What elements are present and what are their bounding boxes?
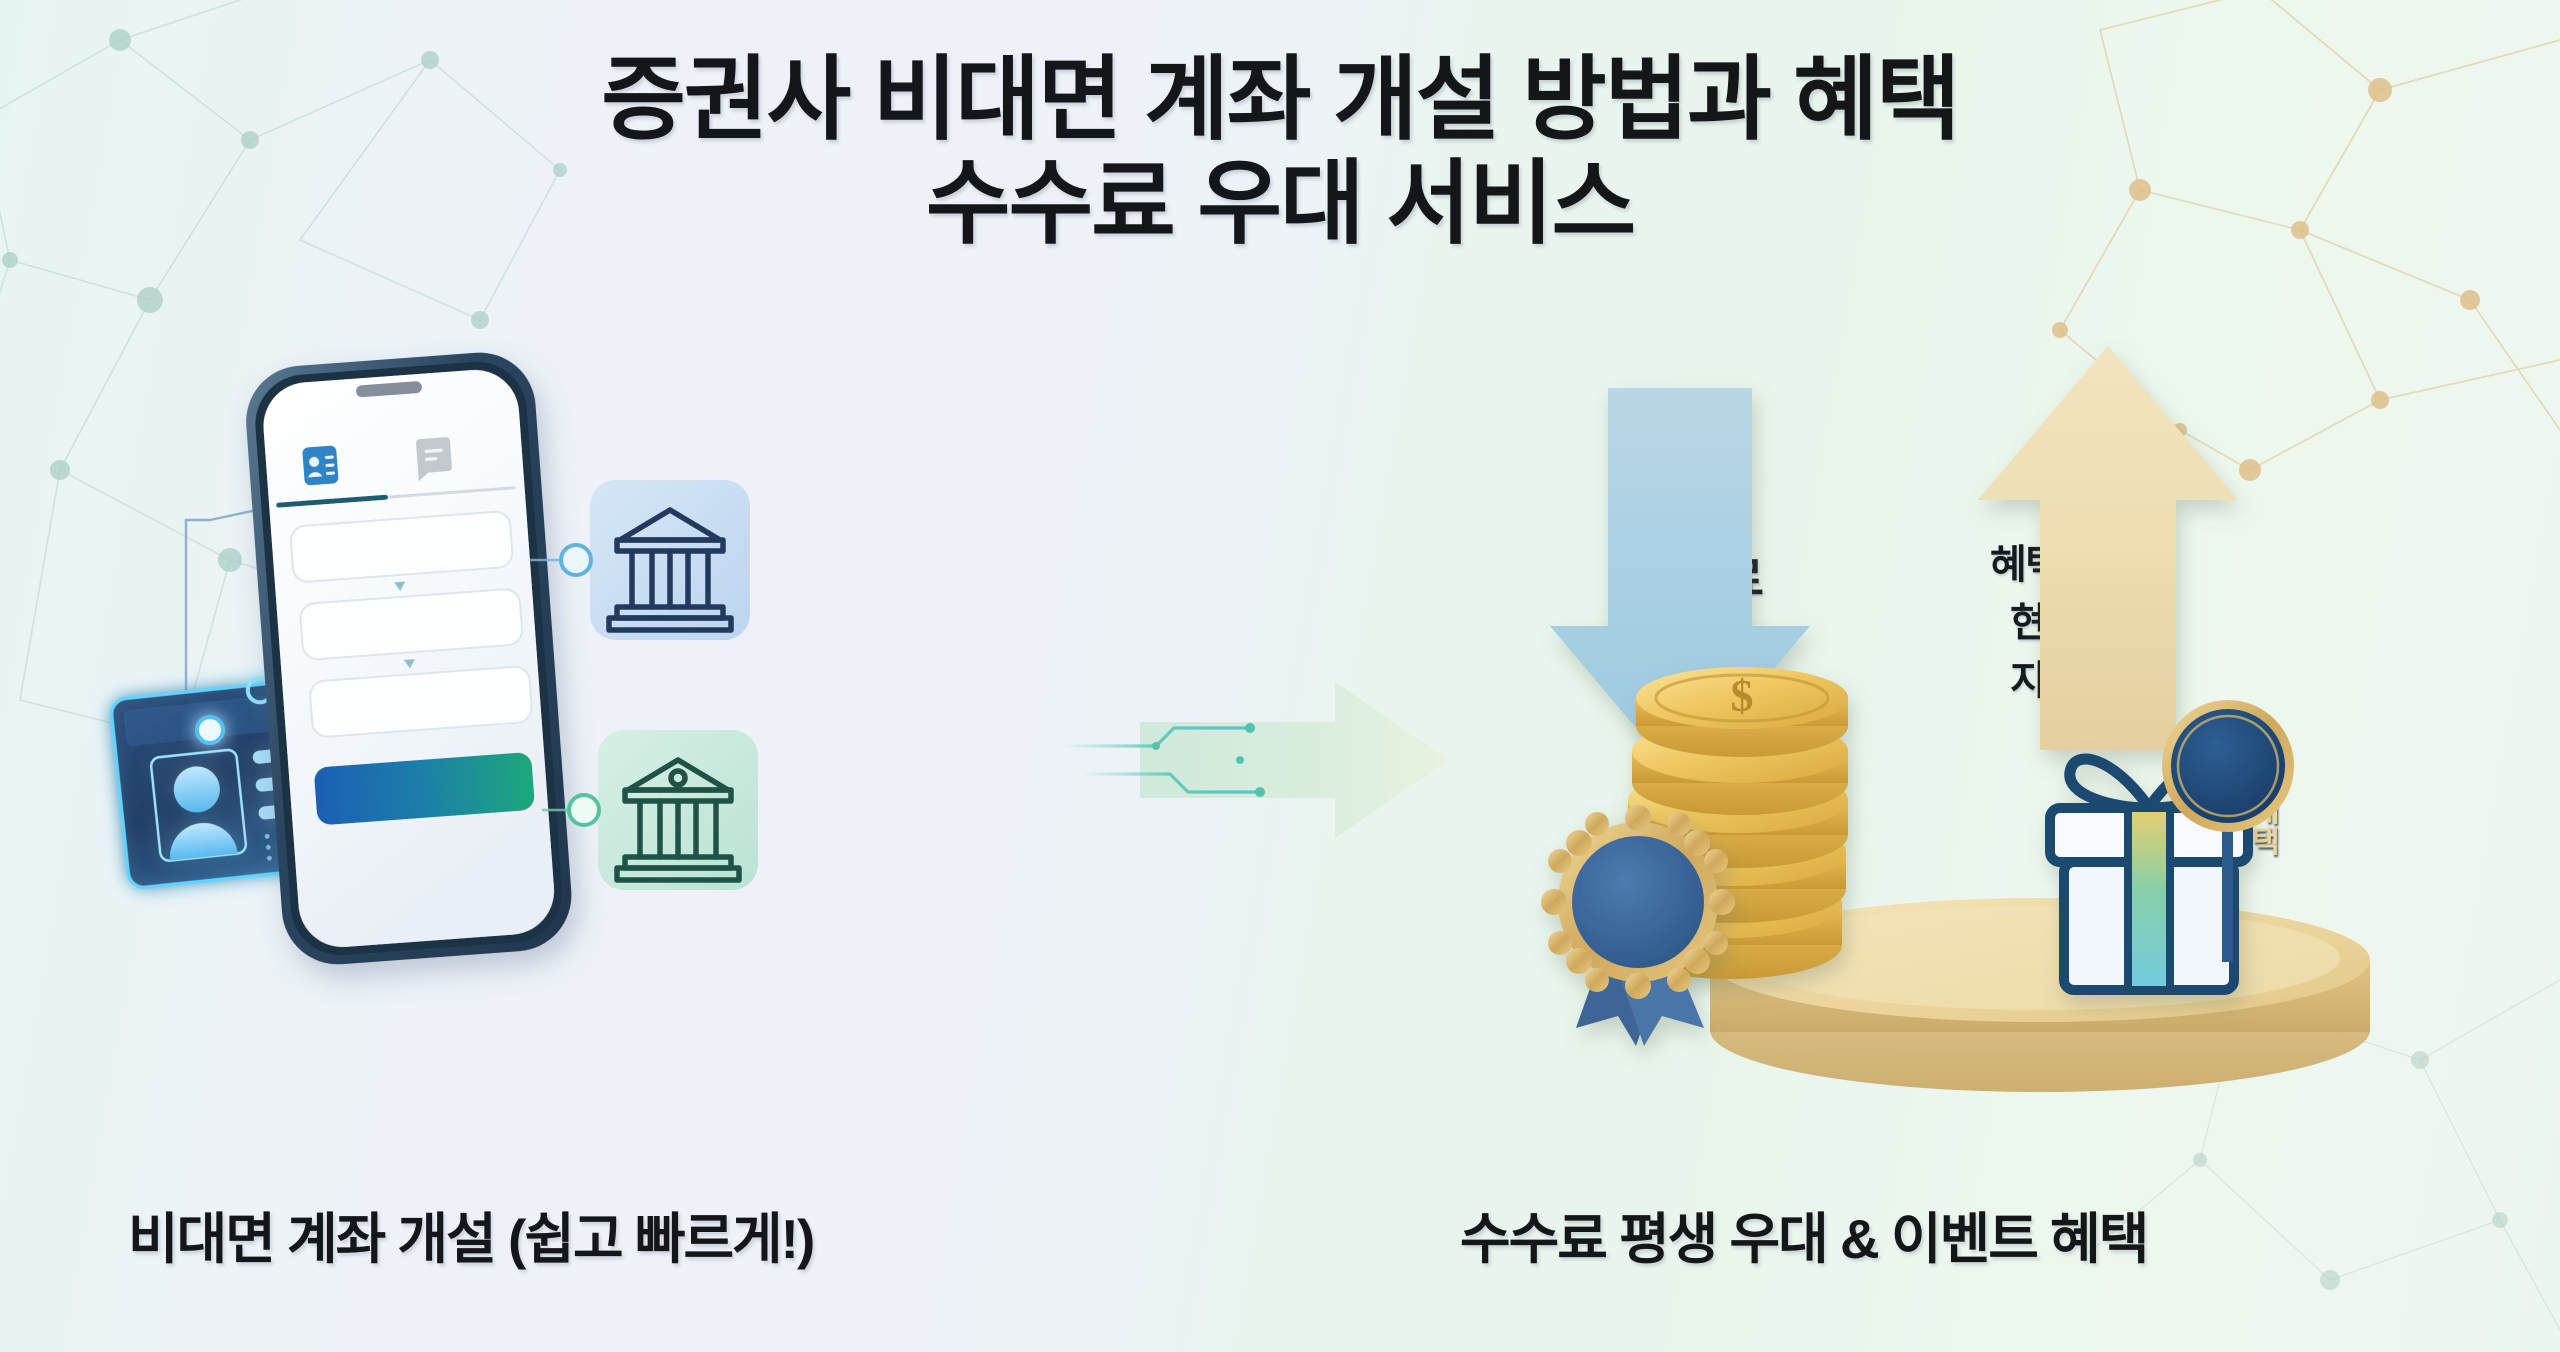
caption-left: 비대면 계좌 개설 (쉽고 빠르게!) — [128, 1194, 813, 1274]
connector-node — [569, 795, 599, 825]
right-panel-illustration: $ — [1480, 380, 2500, 1120]
sidebar-item-id-card — [302, 445, 339, 485]
caption-right: 수수료 평생 우대 & 이벤트 혜택 — [1460, 1194, 2147, 1274]
connector-node — [561, 545, 591, 575]
transition-arrow-icon — [1120, 660, 1480, 860]
dollar-symbol: $ — [1731, 670, 1754, 721]
connector-node — [197, 717, 223, 743]
lifetime-badge — [1541, 805, 1735, 1046]
infographic-canvas: 증권사 비대면 계좌 개설 방법과 혜택 수수료 우대 서비스 — [0, 0, 2560, 1352]
left-panel-illustration — [90, 400, 1010, 1100]
phone-mockup — [242, 349, 575, 969]
page-title: 증권사 비대면 계좌 개설 방법과 혜택 수수료 우대 서비스 — [0, 52, 2560, 253]
bank-node-2 — [569, 730, 758, 890]
arrow-up-icon — [1978, 346, 2238, 750]
title-line-2: 수수료 우대 서비스 — [0, 156, 2560, 254]
step-list — [290, 510, 533, 738]
title-line-1: 증권사 비대면 계좌 개설 방법과 혜택 — [0, 52, 2560, 150]
bank-node-1 — [561, 480, 750, 640]
